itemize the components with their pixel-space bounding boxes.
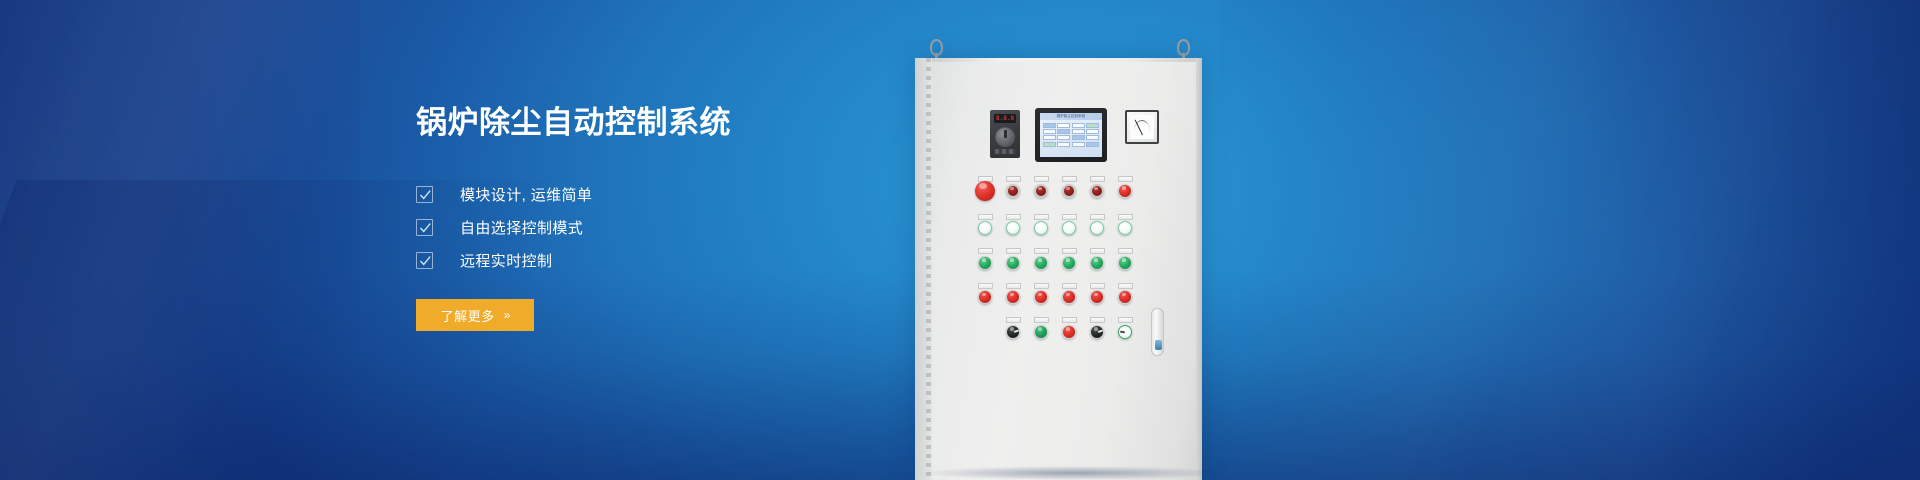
lamp-cell[interactable]	[1027, 248, 1055, 270]
hmi-title-bar: 锅炉除尘控制系统	[1040, 113, 1102, 120]
lamp-cell[interactable]	[1055, 283, 1083, 305]
selector-knob[interactable]	[1118, 325, 1132, 339]
hmi-cell	[1043, 142, 1056, 147]
cabinet-left-side-panel	[915, 58, 932, 480]
checkbox-icon	[416, 219, 433, 236]
hmi-cell	[1057, 129, 1070, 134]
lamp-cell[interactable]	[1083, 248, 1111, 270]
hmi-cell	[1086, 142, 1099, 147]
lamp-label-tag	[1090, 248, 1105, 254]
lamp-cell[interactable]	[1027, 283, 1055, 305]
power-lamp[interactable]	[1006, 221, 1020, 235]
lamp-cell[interactable]	[971, 248, 999, 270]
hmi-title-text: 锅炉除尘控制系统	[1057, 115, 1086, 118]
power-lamp[interactable]	[1090, 221, 1104, 235]
controller-buttons	[995, 149, 1016, 154]
lamp-label-tag	[1090, 176, 1105, 182]
alarm-lamp[interactable]	[1062, 184, 1076, 198]
hmi-cell	[1043, 123, 1056, 128]
lamp-label-tag	[1090, 283, 1105, 289]
lamp-cell[interactable]	[1111, 248, 1139, 270]
lamp-cell[interactable]	[1055, 176, 1083, 201]
emergency-stop-button[interactable]	[975, 181, 995, 201]
checkbox-icon	[416, 252, 433, 269]
power-lamp[interactable]	[1062, 221, 1076, 235]
lamp-cell[interactable]	[1055, 317, 1083, 339]
banner-copy: 锅炉除尘自动控制系统 模块设计, 运维简单 自由选择控制模式	[416, 104, 886, 331]
list-item: 远程实时控制	[416, 244, 886, 277]
stop-lamp[interactable]	[1034, 290, 1048, 304]
stop-lamp[interactable]	[978, 290, 992, 304]
hmi-cell	[1043, 135, 1056, 140]
cabinet-right-edge	[1196, 58, 1202, 480]
hmi-cell	[1072, 135, 1085, 140]
lamp-label-tag	[1062, 214, 1077, 220]
stop-lamp[interactable]	[1118, 290, 1132, 304]
lamp-cell[interactable]	[1083, 283, 1111, 305]
lamp-cell[interactable]	[971, 283, 999, 305]
lamp-row-selectors	[999, 317, 1171, 339]
hmi-cell	[1072, 142, 1085, 147]
lamp-label-tag	[1118, 214, 1133, 220]
controller-display: 8.8.8	[994, 114, 1016, 123]
controller-display-value: 8.8.8	[996, 116, 1014, 122]
cabinet-top-edge	[915, 58, 1202, 62]
hmi-content-grid	[1043, 123, 1099, 154]
lamp-cell[interactable]	[1111, 283, 1139, 305]
lamp-label-tag	[978, 248, 993, 254]
learn-more-button[interactable]: 了解更多 »	[416, 299, 534, 331]
stop-lamp[interactable]	[1090, 290, 1104, 304]
lamp-cell[interactable]	[1111, 317, 1139, 339]
lamp-label-tag	[1118, 283, 1133, 289]
lamp-cell[interactable]	[1027, 214, 1055, 236]
selector-knob[interactable]	[1006, 325, 1020, 339]
lamp-cell[interactable]	[1111, 176, 1139, 201]
alarm-lamp[interactable]	[1006, 184, 1020, 198]
lamp-cell[interactable]	[999, 248, 1027, 270]
lamp-cell[interactable]	[971, 176, 999, 201]
lamp-cell[interactable]	[1055, 214, 1083, 236]
list-item: 自由选择控制模式	[416, 211, 886, 244]
cabinet-body: 8.8.8 锅炉除尘控制系统	[915, 58, 1202, 480]
lamp-label-tag	[1034, 176, 1049, 182]
power-lamp[interactable]	[1118, 221, 1132, 235]
list-item: 模块设计, 运维简单	[416, 178, 886, 211]
lamp-label-tag	[1034, 317, 1049, 323]
feature-label: 远程实时控制	[460, 250, 552, 271]
hmi-cell	[1086, 129, 1099, 134]
alarm-lamp[interactable]	[1034, 184, 1048, 198]
lamp-cell[interactable]	[971, 214, 999, 236]
lamp-label-tag	[978, 214, 993, 220]
control-cabinet-image: 8.8.8 锅炉除尘控制系统	[900, 0, 1220, 480]
hero-banner: 锅炉除尘自动控制系统 模块设计, 运维简单 自由选择控制模式	[0, 0, 1920, 480]
hmi-cell	[1072, 129, 1085, 134]
lamp-row-power	[971, 214, 1171, 236]
alarm-lamp[interactable]	[1118, 184, 1132, 198]
lamp-label-tag	[1062, 248, 1077, 254]
run-lamp[interactable]	[1034, 256, 1048, 270]
lamp-row-emergency	[971, 176, 1171, 201]
lamp-cell[interactable]	[1083, 214, 1111, 236]
controller-dial-icon	[995, 127, 1015, 147]
feature-label: 模块设计, 运维简单	[460, 184, 592, 205]
lamp-cell[interactable]	[999, 176, 1027, 201]
lamp-cell[interactable]	[999, 317, 1027, 339]
lamp-cell[interactable]	[1055, 248, 1083, 270]
selector-knob[interactable]	[1090, 325, 1104, 339]
run-lamp[interactable]	[1090, 256, 1104, 270]
learn-more-label: 了解更多	[441, 306, 495, 325]
stop-button[interactable]	[1062, 325, 1076, 339]
feature-label: 自由选择控制模式	[460, 217, 583, 238]
chevron-right-icon: »	[504, 308, 510, 322]
indicator-lamp-grid	[971, 176, 1171, 352]
lamp-label-tag	[1118, 317, 1133, 323]
lamp-label-tag	[1090, 214, 1105, 220]
lamp-cell[interactable]	[1111, 214, 1139, 236]
hmi-cell	[1072, 123, 1085, 128]
stop-lamp[interactable]	[1062, 290, 1076, 304]
cabinet-door-handle[interactable]	[1151, 308, 1164, 356]
lamp-label-tag	[1034, 248, 1049, 254]
hmi-cell	[1086, 135, 1099, 140]
lamp-label-tag	[1118, 248, 1133, 254]
hmi-screen: 锅炉除尘控制系统	[1040, 113, 1102, 157]
lamp-cell[interactable]	[1083, 317, 1111, 339]
run-lamp[interactable]	[1118, 256, 1132, 270]
lamp-label-tag	[1006, 214, 1021, 220]
lamp-label-tag	[1062, 176, 1077, 182]
meter-face	[1130, 115, 1154, 139]
stop-lamp[interactable]	[1006, 290, 1020, 304]
lamp-label-tag	[1006, 317, 1021, 323]
temperature-controller: 8.8.8	[990, 110, 1020, 158]
page-title: 锅炉除尘自动控制系统	[416, 104, 886, 141]
lamp-label-tag	[1006, 248, 1021, 254]
lamp-cell[interactable]	[1027, 176, 1055, 201]
lamp-cell[interactable]	[1027, 317, 1055, 339]
hmi-cell	[1043, 129, 1056, 134]
hmi-cell	[1057, 142, 1070, 147]
lamp-cell[interactable]	[1083, 176, 1111, 201]
lamp-row-stop	[971, 283, 1171, 305]
run-lamp[interactable]	[1062, 256, 1076, 270]
feature-list: 模块设计, 运维简单 自由选择控制模式 远程实时控制	[416, 178, 886, 277]
run-lamp[interactable]	[1006, 256, 1020, 270]
hmi-touchscreen[interactable]: 锅炉除尘控制系统	[1035, 108, 1107, 162]
lamp-label-tag	[1006, 283, 1021, 289]
lamp-label-tag	[1090, 317, 1105, 323]
lamp-label-tag	[1118, 176, 1133, 182]
hmi-cell	[1086, 123, 1099, 128]
lamp-cell[interactable]	[999, 283, 1027, 305]
lamp-cell[interactable]	[999, 214, 1027, 236]
analog-panel-meter	[1125, 110, 1159, 144]
run-lamp[interactable]	[978, 256, 992, 270]
hmi-cell	[1057, 135, 1070, 140]
lamp-label-tag	[978, 283, 993, 289]
lamp-label-tag	[1062, 283, 1077, 289]
alarm-lamp[interactable]	[1090, 184, 1104, 198]
lamp-label-tag	[1034, 283, 1049, 289]
hmi-cell	[1057, 123, 1070, 128]
start-button[interactable]	[1034, 325, 1048, 339]
lamp-label-tag	[1034, 214, 1049, 220]
cabinet-shadow	[923, 466, 1223, 480]
lamp-row-run	[971, 248, 1171, 270]
checkbox-icon	[416, 186, 433, 203]
lamp-label-tag	[1062, 317, 1077, 323]
lamp-label-tag	[1006, 176, 1021, 182]
power-lamp[interactable]	[978, 221, 992, 235]
power-lamp[interactable]	[1034, 221, 1048, 235]
